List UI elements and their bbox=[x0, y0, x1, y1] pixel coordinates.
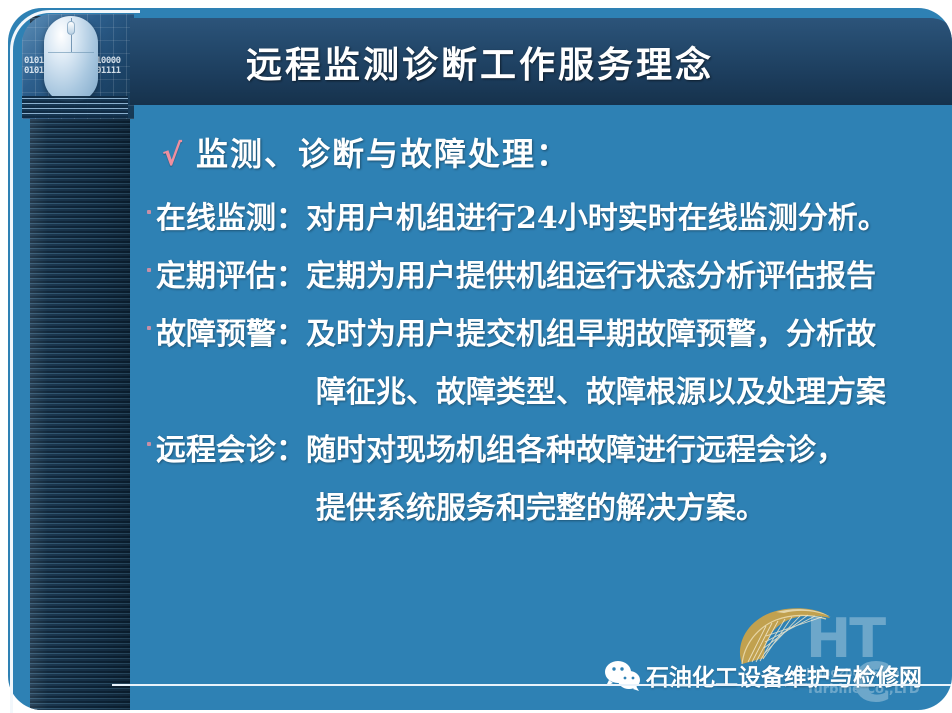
left-decorative-sidebar bbox=[30, 16, 130, 710]
binary-text-left-top: 0101 bbox=[24, 56, 44, 66]
list-item-continuation: 提供系统服务和完整的解决方案。 bbox=[144, 480, 952, 538]
mouse-wheel bbox=[67, 21, 75, 35]
sidebar-stripe-band bbox=[22, 96, 128, 118]
binary-text-right-bottom: 01111 bbox=[96, 66, 121, 76]
list-item-label: 在线监测：对用户机组进行24小时实时在线监测分析。 bbox=[156, 190, 888, 248]
list-item: 在线监测：对用户机组进行24小时实时在线监测分析。 bbox=[144, 190, 952, 248]
watermark-block: HT C Hangzhou Steam Turbine Co.,LTD bbox=[602, 600, 952, 710]
mouse-icon bbox=[44, 16, 98, 102]
list-item-label: 提供系统服务和完整的解决方案。 bbox=[156, 480, 766, 538]
wechat-icon bbox=[602, 659, 642, 691]
sidebar-gloss-overlay bbox=[30, 16, 130, 710]
section-heading-label: 监测、诊断与故障处理： bbox=[196, 129, 570, 175]
list-item-label: 故障预警：及时为用户提交机组早期故障预警，分析故 bbox=[156, 306, 876, 364]
bottom-divider bbox=[112, 684, 952, 686]
slide-root: 0101 0101 10000 01111 远程监测诊断工作服务理念 √ 监测、… bbox=[0, 0, 952, 713]
list-item: 定期评估：定期为用户提供机组运行状态分析评估报告 bbox=[144, 248, 952, 306]
list-item-label: 远程会诊：随时对现场机组各种故障进行远程会诊， bbox=[156, 422, 846, 480]
mouse-button-line bbox=[48, 52, 94, 53]
bullet-dot-icon-empty bbox=[144, 500, 154, 504]
section-heading: √ 监测、诊断与故障处理： bbox=[162, 129, 570, 175]
bullet-list: 在线监测：对用户机组进行24小时实时在线监测分析。 定期评估：定期为用户提供机组… bbox=[144, 190, 952, 538]
list-item-label: 障征兆、故障类型、故障根源以及处理方案 bbox=[156, 364, 886, 422]
binary-text-right-top: 10000 bbox=[96, 56, 121, 66]
wechat-watermark: 石油化工设备维护与检修网 bbox=[602, 658, 922, 692]
slide-canvas: 0101 0101 10000 01111 远程监测诊断工作服务理念 √ 监测、… bbox=[8, 8, 952, 710]
bullet-dot-icon-empty bbox=[144, 384, 154, 388]
wechat-site-name: 石油化工设备维护与检修网 bbox=[646, 658, 922, 692]
list-item-continuation: 障征兆、故障类型、故障根源以及处理方案 bbox=[144, 364, 952, 422]
bullet-dot-icon bbox=[144, 326, 154, 330]
bullet-dot-icon bbox=[144, 268, 154, 272]
list-item: 故障预警：及时为用户提交机组早期故障预警，分析故 bbox=[144, 306, 952, 364]
bullet-dot-icon bbox=[144, 442, 154, 446]
list-item: 远程会诊：随时对现场机组各种故障进行远程会诊， bbox=[144, 422, 952, 480]
slide-header-bar: 远程监测诊断工作服务理念 bbox=[130, 18, 952, 105]
page-title: 远程监测诊断工作服务理念 bbox=[246, 36, 844, 88]
binary-text-left-bottom: 0101 bbox=[24, 66, 44, 76]
bullet-dot-icon bbox=[144, 210, 154, 214]
check-marker-icon: √ bbox=[162, 138, 182, 173]
list-item-label: 定期评估：定期为用户提供机组运行状态分析评估报告 bbox=[156, 248, 876, 306]
